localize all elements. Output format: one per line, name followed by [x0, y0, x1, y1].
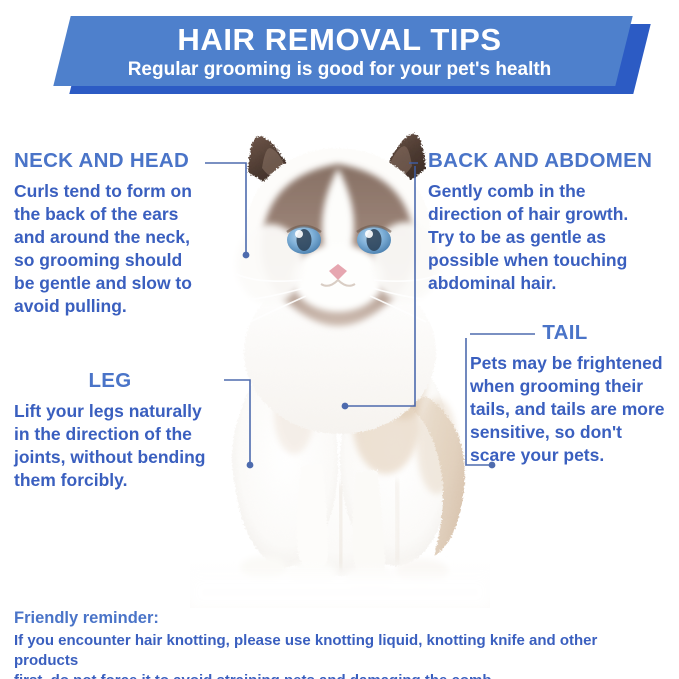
callout-body-leg: Lift your legs naturally in the directio… — [14, 400, 206, 492]
callout-heading-tail: TAIL — [470, 322, 660, 345]
page-title: HAIR REMOVAL TIPS — [177, 23, 501, 56]
infographic-page: HAIR REMOVAL TIPS Regular grooming is go… — [0, 0, 679, 679]
callout-tail: TAIL Pets may be frightened when groomin… — [470, 322, 665, 467]
callout-body-neck-and-head: Curls tend to form on the back of the ea… — [14, 180, 192, 319]
header-banner: HAIR REMOVAL TIPS Regular grooming is go… — [0, 0, 679, 100]
callout-heading-back-and-abdomen: BACK AND ABDOMEN — [428, 150, 652, 173]
callout-body-tail: Pets may be frightened when grooming the… — [470, 352, 665, 467]
callout-leg: LEG Lift your legs naturally in the dire… — [14, 370, 206, 492]
friendly-reminder: Friendly reminder: If you encounter hair… — [14, 608, 664, 679]
callout-back-and-abdomen: BACK AND ABDOMEN Gently comb in the dire… — [428, 150, 652, 295]
callout-heading-neck-and-head: NECK AND HEAD — [14, 150, 192, 173]
friendly-reminder-title: Friendly reminder: — [14, 608, 664, 629]
banner-text-group: HAIR REMOVAL TIPS Regular grooming is go… — [0, 16, 679, 88]
callout-heading-leg: LEG — [14, 370, 206, 393]
callout-neck-and-head: NECK AND HEAD Curls tend to form on the … — [14, 150, 192, 318]
callout-body-back-and-abdomen: Gently comb in the direction of hair gro… — [428, 180, 652, 295]
friendly-reminder-body: If you encounter hair knotting, please u… — [14, 631, 664, 679]
page-subtitle: Regular grooming is good for your pet's … — [128, 60, 552, 81]
